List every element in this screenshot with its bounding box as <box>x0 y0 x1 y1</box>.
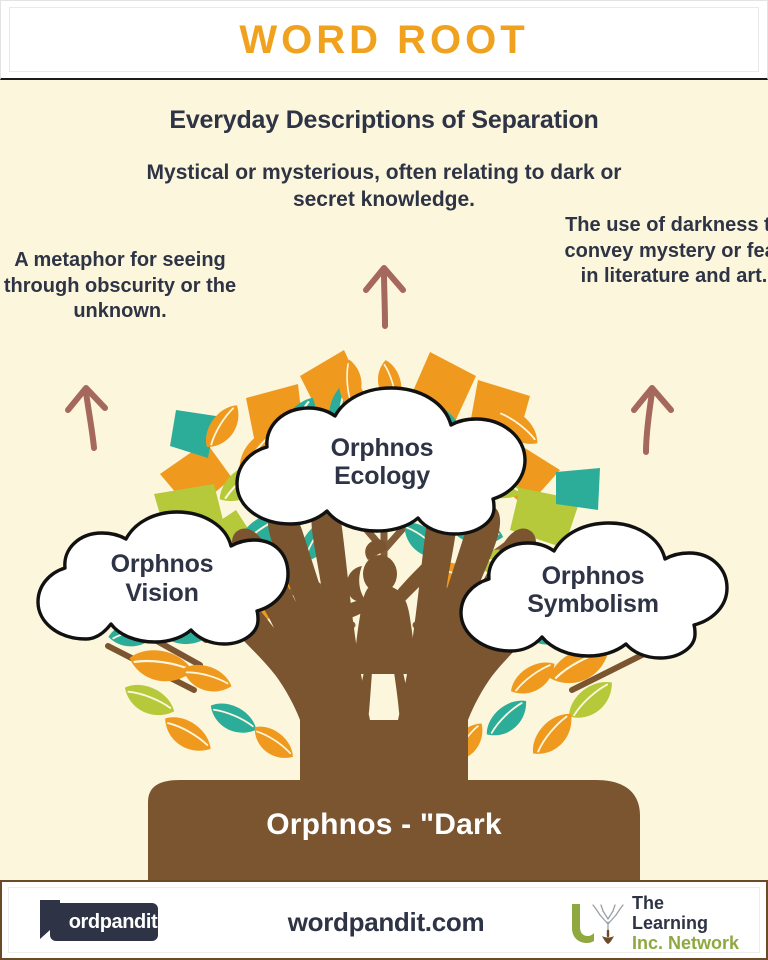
root-word-banner: Orphnos - "Dark <box>0 808 768 842</box>
lead-description: Mystical or mysterious, often relating t… <box>134 160 634 214</box>
note-left: A metaphor for seeing through obscurity … <box>0 248 242 325</box>
note-right: The use of darkness to convey mystery or… <box>556 213 768 290</box>
section-subtitle: Everyday Descriptions of Separation <box>0 106 768 135</box>
wordpandit-logo-text: ordpandit <box>51 911 158 934</box>
partner-line-2: Inc. Network <box>632 933 744 953</box>
learning-network-wordmark: The Learning Inc. Network <box>632 893 744 953</box>
header-inner-frame: WORD ROOT <box>9 7 759 72</box>
header-bar: WORD ROOT <box>0 0 768 80</box>
cloud-bubble-symbolism[interactable]: Orphnos Symbolism <box>453 517 733 663</box>
cloud-bubble-vision[interactable]: Orphnos Vision <box>30 507 294 650</box>
footer-bar: wordpandit.com ordpandit <box>0 880 768 960</box>
partner-line-1: The Learning <box>632 893 744 933</box>
infographic-body: Everyday Descriptions of Separation Myst… <box>0 80 768 880</box>
wordpandit-logo-plate: ordpandit <box>50 903 158 941</box>
arrow-up-center <box>357 258 413 328</box>
arrow-up-right <box>622 378 680 454</box>
page-title: WORD ROOT <box>239 20 528 60</box>
infographic-page: WORD ROOT <box>0 0 768 960</box>
learning-network-logo[interactable]: The Learning Inc. Network <box>564 900 744 946</box>
wordpandit-logo[interactable]: ordpandit <box>32 899 158 943</box>
tree-u-icon <box>564 900 626 946</box>
arrow-up-left <box>62 378 120 450</box>
